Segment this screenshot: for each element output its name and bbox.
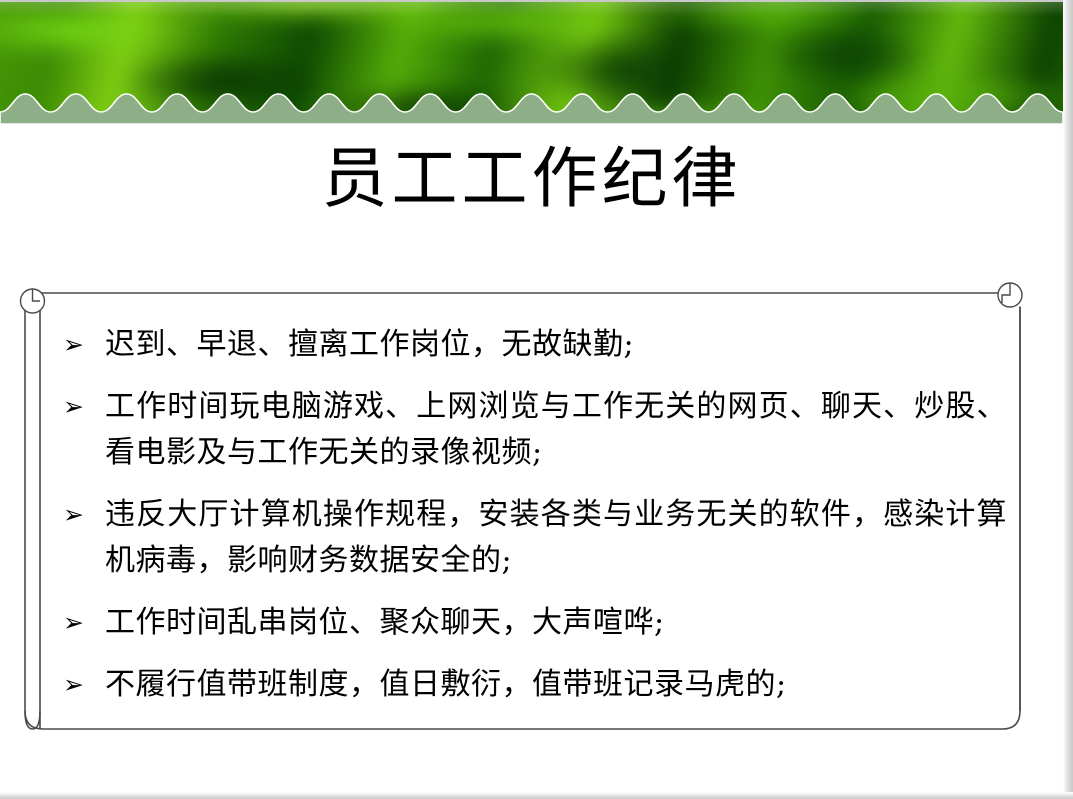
- banner-top-highlight: [0, 2, 1063, 16]
- presentation-slide: 员工工作纪律 ➢ 迟到、早退、擅离工作岗位，无故缺勤;: [0, 0, 1073, 799]
- list-item-text: 迟到、早退、擅离工作岗位，无故缺勤;: [105, 322, 1007, 368]
- list-item: ➢ 迟到、早退、擅离工作岗位，无故缺勤;: [55, 322, 1007, 368]
- list-item-text: 不履行值带班制度，值日敷衍，值带班记录马虎的;: [105, 662, 1007, 708]
- arrow-bullet-icon: ➢: [55, 384, 105, 430]
- list-item-text: 工作时间乱串岗位、聚众聊天，大声喧哗;: [105, 600, 1007, 646]
- list-item: ➢ 工作时间乱串岗位、聚众聊天，大声喧哗;: [55, 600, 1007, 646]
- list-item: ➢ 工作时间玩电脑游戏、上网浏览与工作无关的网页、聊天、炒股、看电影及与工作无关…: [55, 384, 1007, 476]
- list-item: ➢ 违反大厅计算机操作规程，安装各类与业务无关的软件，感染计算机病毒，影响财务数…: [55, 492, 1007, 584]
- list-item: ➢ 不履行值带班制度，值日敷衍，值带班记录马虎的;: [55, 662, 1007, 708]
- page-border-right: [1063, 0, 1073, 799]
- list-item-text: 违反大厅计算机操作规程，安装各类与业务无关的软件，感染计算机病毒，影响财务数据安…: [105, 492, 1007, 584]
- discipline-rules-list: ➢ 迟到、早退、擅离工作岗位，无故缺勤; ➢ 工作时间玩电脑游戏、上网浏览与工作…: [55, 322, 1007, 724]
- slide-title: 员工工作纪律: [0, 136, 1063, 222]
- arrow-bullet-icon: ➢: [55, 600, 105, 646]
- page-border-bottom: [0, 792, 1073, 799]
- arrow-bullet-icon: ➢: [55, 492, 105, 538]
- arrow-bullet-icon: ➢: [55, 322, 105, 368]
- list-item-text: 工作时间玩电脑游戏、上网浏览与工作无关的网页、聊天、炒股、看电影及与工作无关的录…: [105, 384, 1007, 476]
- arrow-bullet-icon: ➢: [55, 662, 105, 708]
- scalloped-divider-band: [0, 86, 1063, 124]
